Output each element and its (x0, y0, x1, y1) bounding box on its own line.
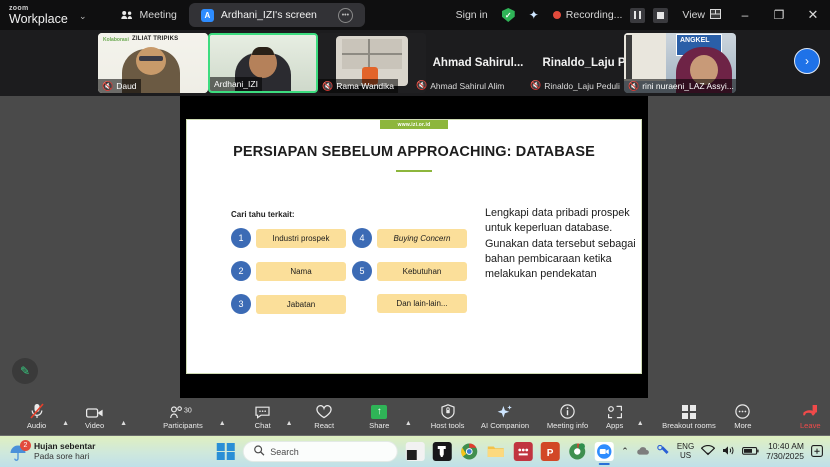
tab-overflow-icon[interactable]: ••• (338, 8, 353, 23)
notification-icon[interactable] (811, 445, 823, 459)
item-label: Buying Concern (377, 229, 467, 248)
camera-icon (86, 403, 104, 419)
microphone-muted-icon: 🔇 (530, 81, 541, 90)
brand-main: Workplace (9, 13, 70, 26)
toolbar-meeting-info-button[interactable]: Meeting info (538, 398, 598, 436)
tab-shared-screen[interactable]: A Ardhani_IZI's screen ••• (189, 3, 365, 27)
toolbar-label: Leave (800, 421, 821, 430)
participant-name: Ahmad Sahirul Alim (430, 81, 504, 91)
ai-companion-button[interactable]: ✦ (522, 8, 546, 22)
participant-name: rini nuraeni_LAZ Assyi... (642, 81, 734, 91)
view-layout-icon (710, 9, 721, 22)
svg-text:30: 30 (184, 408, 192, 415)
powerpoint-icon[interactable]: P (540, 442, 559, 461)
toolbar-host-tools-button[interactable]: Host tools (423, 398, 473, 436)
slide-item-3: 3 Jabatan (231, 294, 346, 314)
battery-icon[interactable] (742, 446, 759, 458)
microphone-muted-icon: 🔇 (416, 81, 427, 90)
slide-paragraph: Lengkapi data pribadi prospek untuk kepe… (485, 206, 637, 283)
red-app-icon[interactable] (513, 442, 532, 461)
people-icon (121, 10, 133, 20)
toolbar-ai-companion-button[interactable]: AI Companion (472, 398, 537, 436)
recording-status[interactable]: Recording... (546, 8, 676, 23)
video-tile-daud[interactable]: Kolaborasi ZILIAT TRIPIKS 🔇 Daud (98, 33, 208, 93)
toolbar-apps-button[interactable]: Apps (597, 398, 631, 436)
item-label: Dan lain-lain... (377, 294, 467, 313)
video-tile-rama[interactable]: 🔇 Rama Wandika (318, 33, 426, 93)
item-number: 3 (231, 294, 251, 314)
toolbar-label: Meeting info (547, 421, 588, 430)
microphone-muted-icon: 🔇 (628, 82, 639, 91)
participant-name: Ardhani_IZI (214, 79, 258, 89)
item-number: 5 (352, 261, 372, 281)
meeting-stage: www.izi.or.id PERSIAPAN SEBELUM APPROACH… (0, 96, 830, 398)
slide-item-1: 1 Industri prospek (231, 228, 346, 248)
windows-taskbar: 2 Hujan sebentar Pada sore hari Search (0, 436, 830, 467)
dark-app-icon[interactable] (432, 442, 451, 461)
slide-title: PERSIAPAN SEBELUM APPROACHING: DATABASE (187, 144, 641, 160)
microphone-muted-icon (30, 403, 44, 419)
recording-dot-icon (553, 11, 561, 19)
apps-icon (607, 403, 623, 419)
participant-display-name: Ahmad Sahirul... (433, 57, 524, 69)
toolbar-label: Host tools (431, 421, 465, 430)
toolbar-label: Chat (255, 421, 271, 430)
chrome-icon[interactable] (459, 442, 478, 461)
toolbar-label: Share (369, 421, 389, 430)
tab-shared-screen-label: Ardhani_IZI's screen (221, 9, 317, 21)
stop-recording-button[interactable] (653, 8, 668, 23)
meeting-toolbar: Audio ▲ Video ▲ 30 Participants ▲ Chat ▲ (0, 398, 830, 436)
volume-icon[interactable] (722, 445, 735, 458)
video-tile-name-daud: 🔇 Daud (98, 79, 141, 93)
taskbar-search-input[interactable]: Search (242, 441, 397, 462)
video-tile-name-rama: 🔇 Rama Wandika (318, 79, 398, 93)
slide-item-2: 2 Nama (231, 261, 346, 281)
zoom-meeting-window: zoom Workplace ⌄ Meeting A Ardhani_IZI's… (0, 0, 830, 467)
minimize-button[interactable]: – (728, 0, 762, 30)
slide-item-4: 4 Buying Concern (352, 228, 467, 248)
toolbar-video-button[interactable]: Video (74, 398, 115, 436)
file-explorer-icon[interactable] (486, 442, 505, 461)
toolbar-audio-button[interactable]: Audio (16, 398, 57, 436)
microphone-muted-icon: 🔇 (102, 82, 113, 91)
zoom-workplace-logo: zoom Workplace (0, 5, 70, 26)
brand-small: zoom (9, 5, 70, 12)
item-label: Kebutuhan (377, 262, 467, 281)
cloud-icon[interactable] (636, 446, 650, 458)
slide-section-label: Cari tahu terkait: (231, 210, 295, 219)
tray-chevron-up-icon[interactable]: ⌃ (621, 446, 629, 457)
title-bar: zoom Workplace ⌄ Meeting A Ardhani_IZI's… (0, 0, 830, 30)
screen-share-badge: A (201, 9, 214, 22)
slide-item-5: 5 Kebutuhan (352, 261, 467, 281)
zoom-app-icon[interactable] (594, 442, 613, 461)
participant-name: Daud (116, 81, 136, 91)
toolbar-label: Participants (163, 421, 203, 430)
item-label: Jabatan (256, 295, 346, 314)
taskbar-center-group: Search P (217, 441, 614, 462)
leave-icon (802, 403, 818, 419)
share-screen-icon: ↑ (371, 405, 387, 419)
item-label: Nama (256, 262, 346, 281)
chevron-down-icon[interactable]: ⌄ (79, 11, 87, 22)
encryption-shield-button[interactable]: ✓ (495, 8, 522, 22)
svg-text:P: P (546, 448, 553, 459)
toolbar-label: AI Companion (481, 421, 529, 430)
toolbar-label: Breakout rooms (662, 421, 716, 430)
shield-icon (441, 403, 455, 419)
video-tile-ardhani[interactable]: Ardhani_IZI (208, 33, 318, 93)
toolbar-label: Video (85, 421, 104, 430)
tab-meeting[interactable]: Meeting (109, 3, 189, 27)
info-icon (560, 403, 575, 419)
titlebar-right-controls: Sign in ✓ ✦ Recording... View – ❐ (449, 0, 830, 30)
filmstrip-next-arrow-icon[interactable]: › (794, 48, 820, 74)
slide-title-divider (396, 170, 432, 172)
toolbar-react-button[interactable]: React (304, 398, 345, 436)
taskbar-weather-widget[interactable]: 2 Hujan sebentar Pada sore hari (0, 442, 95, 462)
sparkle-icon (497, 403, 513, 419)
participant-name: Rinaldo_Laju Peduli (544, 81, 620, 91)
windows-start-icon[interactable] (217, 443, 235, 461)
item-number: 2 (231, 261, 251, 281)
chat-bubble-icon (255, 403, 270, 419)
toolbar-participants-button[interactable]: 30 Participants (152, 398, 214, 436)
toolbar-share-button[interactable]: ↑ Share (359, 398, 400, 436)
video-tile-name-ardhani: Ardhani_IZI (210, 77, 262, 91)
search-icon (253, 445, 264, 458)
toolbar-label: More (734, 421, 751, 430)
toolbar-breakout-rooms-button[interactable]: Breakout rooms (655, 398, 724, 436)
view-button[interactable]: View (675, 9, 728, 22)
notification-count-badge: 2 (20, 440, 31, 451)
shield-icon: ✓ (502, 8, 515, 22)
video-tile-rini[interactable]: ANGKEL 🔇 rini nuraeni_LAZ Assyi... (624, 33, 736, 93)
tab-meeting-label: Meeting (140, 9, 177, 21)
weather-subtitle: Pada sore hari (34, 452, 95, 462)
item-number: 4 (352, 228, 372, 248)
maximize-button[interactable]: ❐ (762, 0, 796, 30)
chrome-drive-icon[interactable] (567, 442, 586, 461)
video-filmstrip: Kolaborasi ZILIAT TRIPIKS 🔇 Daud Ardhani… (0, 30, 830, 96)
pen-icon[interactable] (657, 445, 670, 458)
taskview-icon[interactable] (405, 442, 424, 461)
participant-subname-ahmad: 🔇 Ahmad Sahirul Alim (416, 79, 538, 92)
pause-recording-button[interactable] (630, 8, 645, 23)
toolbar-label: Apps (606, 421, 623, 430)
toolbar-label: Audio (27, 421, 46, 430)
annotate-pencil-icon[interactable]: ✎ (12, 358, 38, 384)
sign-in-button[interactable]: Sign in (449, 9, 495, 21)
more-icon (735, 403, 750, 419)
toolbar-more-button[interactable]: More (723, 398, 762, 436)
presentation-slide: www.izi.or.id PERSIAPAN SEBELUM APPROACH… (186, 119, 642, 374)
item-number: 1 (231, 228, 251, 248)
item-label: Industri prospek (256, 229, 346, 248)
toolbar-label: React (314, 421, 334, 430)
wifi-icon[interactable] (701, 445, 715, 458)
slide-item-6: Dan lain-lain... (352, 294, 467, 313)
heart-icon (316, 403, 332, 419)
taskbar-system-tray: ⌃ ENG US 10:40 AM 7/30/2025 (621, 442, 830, 462)
view-label: View (682, 9, 705, 21)
video-tile-name-rini: 🔇 rini nuraeni_LAZ Assyi... (624, 79, 736, 93)
breakout-rooms-icon (682, 405, 696, 419)
toolbar-leave-button[interactable]: Leave (791, 398, 830, 436)
close-button[interactable]: ✕ (796, 0, 830, 30)
participants-icon: 30 (170, 403, 196, 419)
shared-screen-area[interactable]: www.izi.or.id PERSIAPAN SEBELUM APPROACH… (180, 96, 648, 398)
umbrella-icon: 2 (8, 442, 28, 462)
taskbar-clock[interactable]: 10:40 AM 7/30/2025 (766, 442, 804, 462)
participant-name: Rama Wandika (336, 81, 394, 91)
sign-in-label: Sign in (456, 9, 488, 21)
toolbar-chat-button[interactable]: Chat (245, 398, 281, 436)
slide-website-banner: www.izi.or.id (380, 120, 448, 129)
language-indicator[interactable]: ENG US (677, 443, 694, 460)
recording-label: Recording... (566, 9, 623, 21)
sparkle-icon: ✦ (529, 8, 539, 22)
microphone-muted-icon: 🔇 (322, 82, 333, 91)
search-placeholder: Search (270, 447, 299, 457)
